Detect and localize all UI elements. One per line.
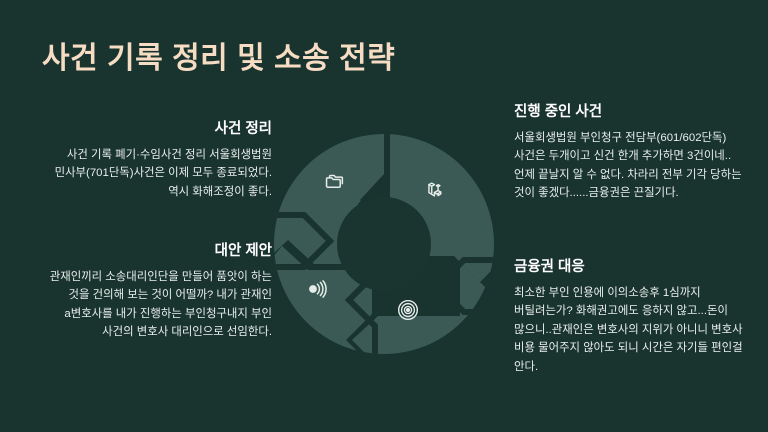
block-heading: 대안 제안 bbox=[34, 242, 272, 261]
block-body: 최소한 부인 인용에 이의소송후 1심까지 버틸려는가? 화해권고에도 응하지 … bbox=[514, 284, 752, 376]
block-heading: 사건 정리 bbox=[34, 120, 272, 139]
block-body: 관재인끼리 소송대리인단을 만들어 품앗이 하는 것을 건의해 보는 것이 어떨… bbox=[34, 268, 272, 342]
block-body: 사건 기록 폐기·수임사건 정리 서울회생법원 민사부(701단독)사건은 이제… bbox=[34, 146, 272, 201]
diagram-hub bbox=[337, 197, 431, 291]
circular-process-diagram bbox=[274, 134, 494, 354]
page-title: 사건 기록 정리 및 소송 전략 bbox=[42, 40, 602, 78]
text-block-ongoing: 진행 중인 사건 서울회생법원 부인청구 전담부(601/602단독) 사건은 … bbox=[514, 103, 752, 203]
text-block-financial: 금융권 대응 최소한 부인 인용에 이의소송후 1심까지 버틸려는가? 화해권고… bbox=[514, 258, 752, 376]
slide-canvas: 사건 기록 정리 및 소송 전략 사건 정리 사건 기록 폐기·수임사건 정리 … bbox=[0, 0, 768, 432]
block-heading: 금융권 대응 bbox=[514, 258, 752, 277]
text-block-case-organize: 사건 정리 사건 기록 폐기·수임사건 정리 서울회생법원 민사부(701단독)… bbox=[34, 120, 272, 201]
block-heading: 진행 중인 사건 bbox=[514, 103, 752, 122]
block-body: 서울회생법원 부인청구 전담부(601/602단독) 사건은 두개이고 신건 한… bbox=[514, 129, 752, 203]
text-block-alternative: 대안 제안 관재인끼리 소송대리인단을 만들어 품앗이 하는 것을 건의해 보는… bbox=[34, 242, 272, 342]
